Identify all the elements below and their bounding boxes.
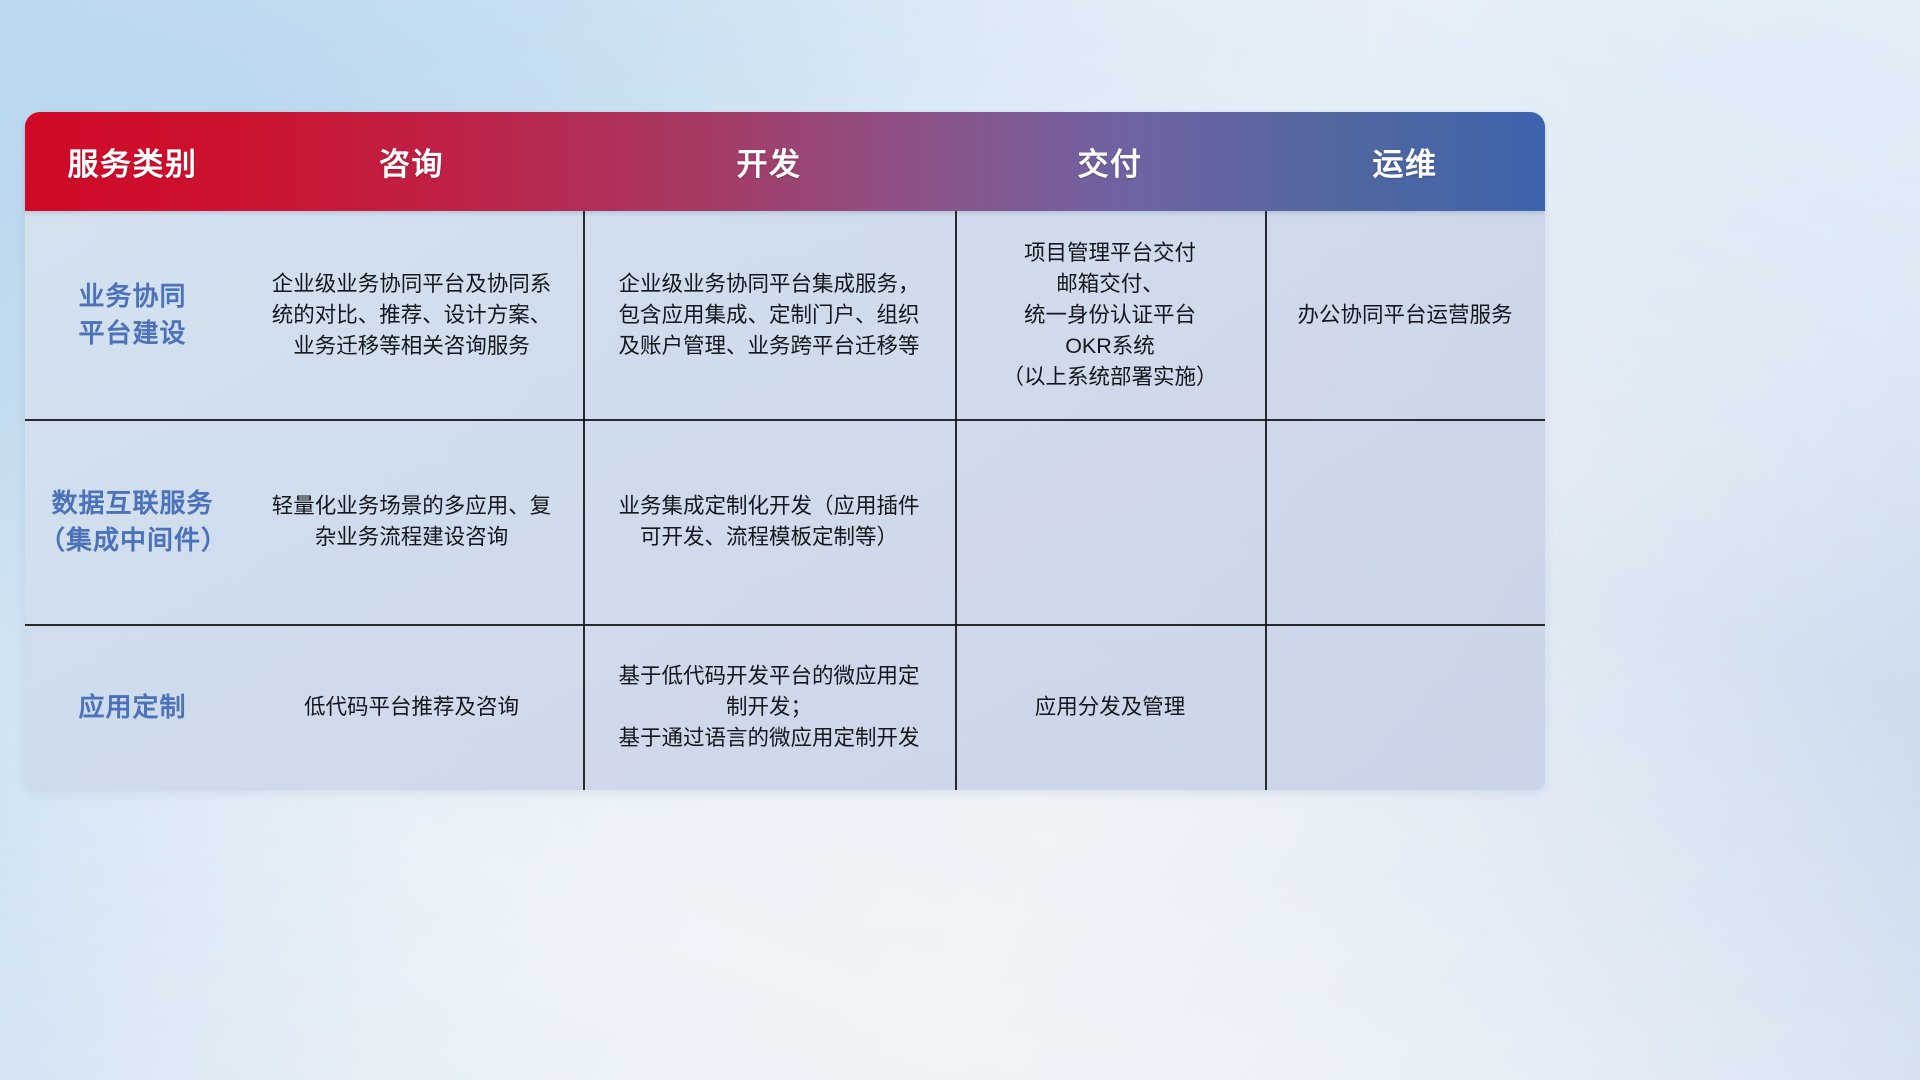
service-matrix-table: 服务类别 咨询 开发 交付 运维 业务协同 平台建设 企业级业务协同平台及协同系… xyxy=(25,112,1545,790)
table-row: 业务协同 平台建设 企业级业务协同平台及协同系 统的对比、推荐、设计方案、 业务… xyxy=(25,211,1545,419)
cell-delivery-row3: 应用分发及管理 xyxy=(955,624,1265,790)
column-header-development: 开发 xyxy=(583,139,955,184)
cell-development-row2: 业务集成定制化开发（应用插件 可开发、流程模板定制等） xyxy=(583,419,955,624)
column-header-delivery: 交付 xyxy=(955,139,1265,184)
cell-delivery-row2 xyxy=(955,419,1265,624)
column-header-operations: 运维 xyxy=(1265,139,1545,184)
cell-development-row1: 企业级业务协同平台集成服务， 包含应用集成、定制门户、组织 及账户管理、业务跨平… xyxy=(583,211,955,419)
row-label-app-customization: 应用定制 xyxy=(25,624,240,790)
table-header-row: 服务类别 咨询 开发 交付 运维 xyxy=(25,112,1545,211)
cell-consulting-row2: 轻量化业务场景的多应用、复 杂业务流程建设咨询 xyxy=(240,419,583,624)
cell-consulting-row3: 低代码平台推荐及咨询 xyxy=(240,624,583,790)
cell-consulting-row1: 企业级业务协同平台及协同系 统的对比、推荐、设计方案、 业务迁移等相关咨询服务 xyxy=(240,211,583,419)
cell-delivery-row1: 项目管理平台交付 邮箱交付、 统一身份认证平台 OKR系统 （以上系统部署实施） xyxy=(955,211,1265,419)
cell-operations-row3 xyxy=(1265,624,1545,790)
column-header-service-category: 服务类别 xyxy=(25,139,240,184)
cell-operations-row1: 办公协同平台运营服务 xyxy=(1265,211,1545,419)
table-row: 数据互联服务 （集成中间件） 轻量化业务场景的多应用、复 杂业务流程建设咨询 业… xyxy=(25,419,1545,624)
table-row: 应用定制 低代码平台推荐及咨询 基于低代码开发平台的微应用定 制开发； 基于通过… xyxy=(25,624,1545,790)
cell-operations-row2 xyxy=(1265,419,1545,624)
row-label-business-collaboration: 业务协同 平台建设 xyxy=(25,211,240,419)
row-label-data-integration: 数据互联服务 （集成中间件） xyxy=(25,419,240,624)
table-body: 业务协同 平台建设 企业级业务协同平台及协同系 统的对比、推荐、设计方案、 业务… xyxy=(25,211,1545,790)
cell-development-row3: 基于低代码开发平台的微应用定 制开发； 基于通过语言的微应用定制开发 xyxy=(583,624,955,790)
column-header-consulting: 咨询 xyxy=(240,139,583,184)
